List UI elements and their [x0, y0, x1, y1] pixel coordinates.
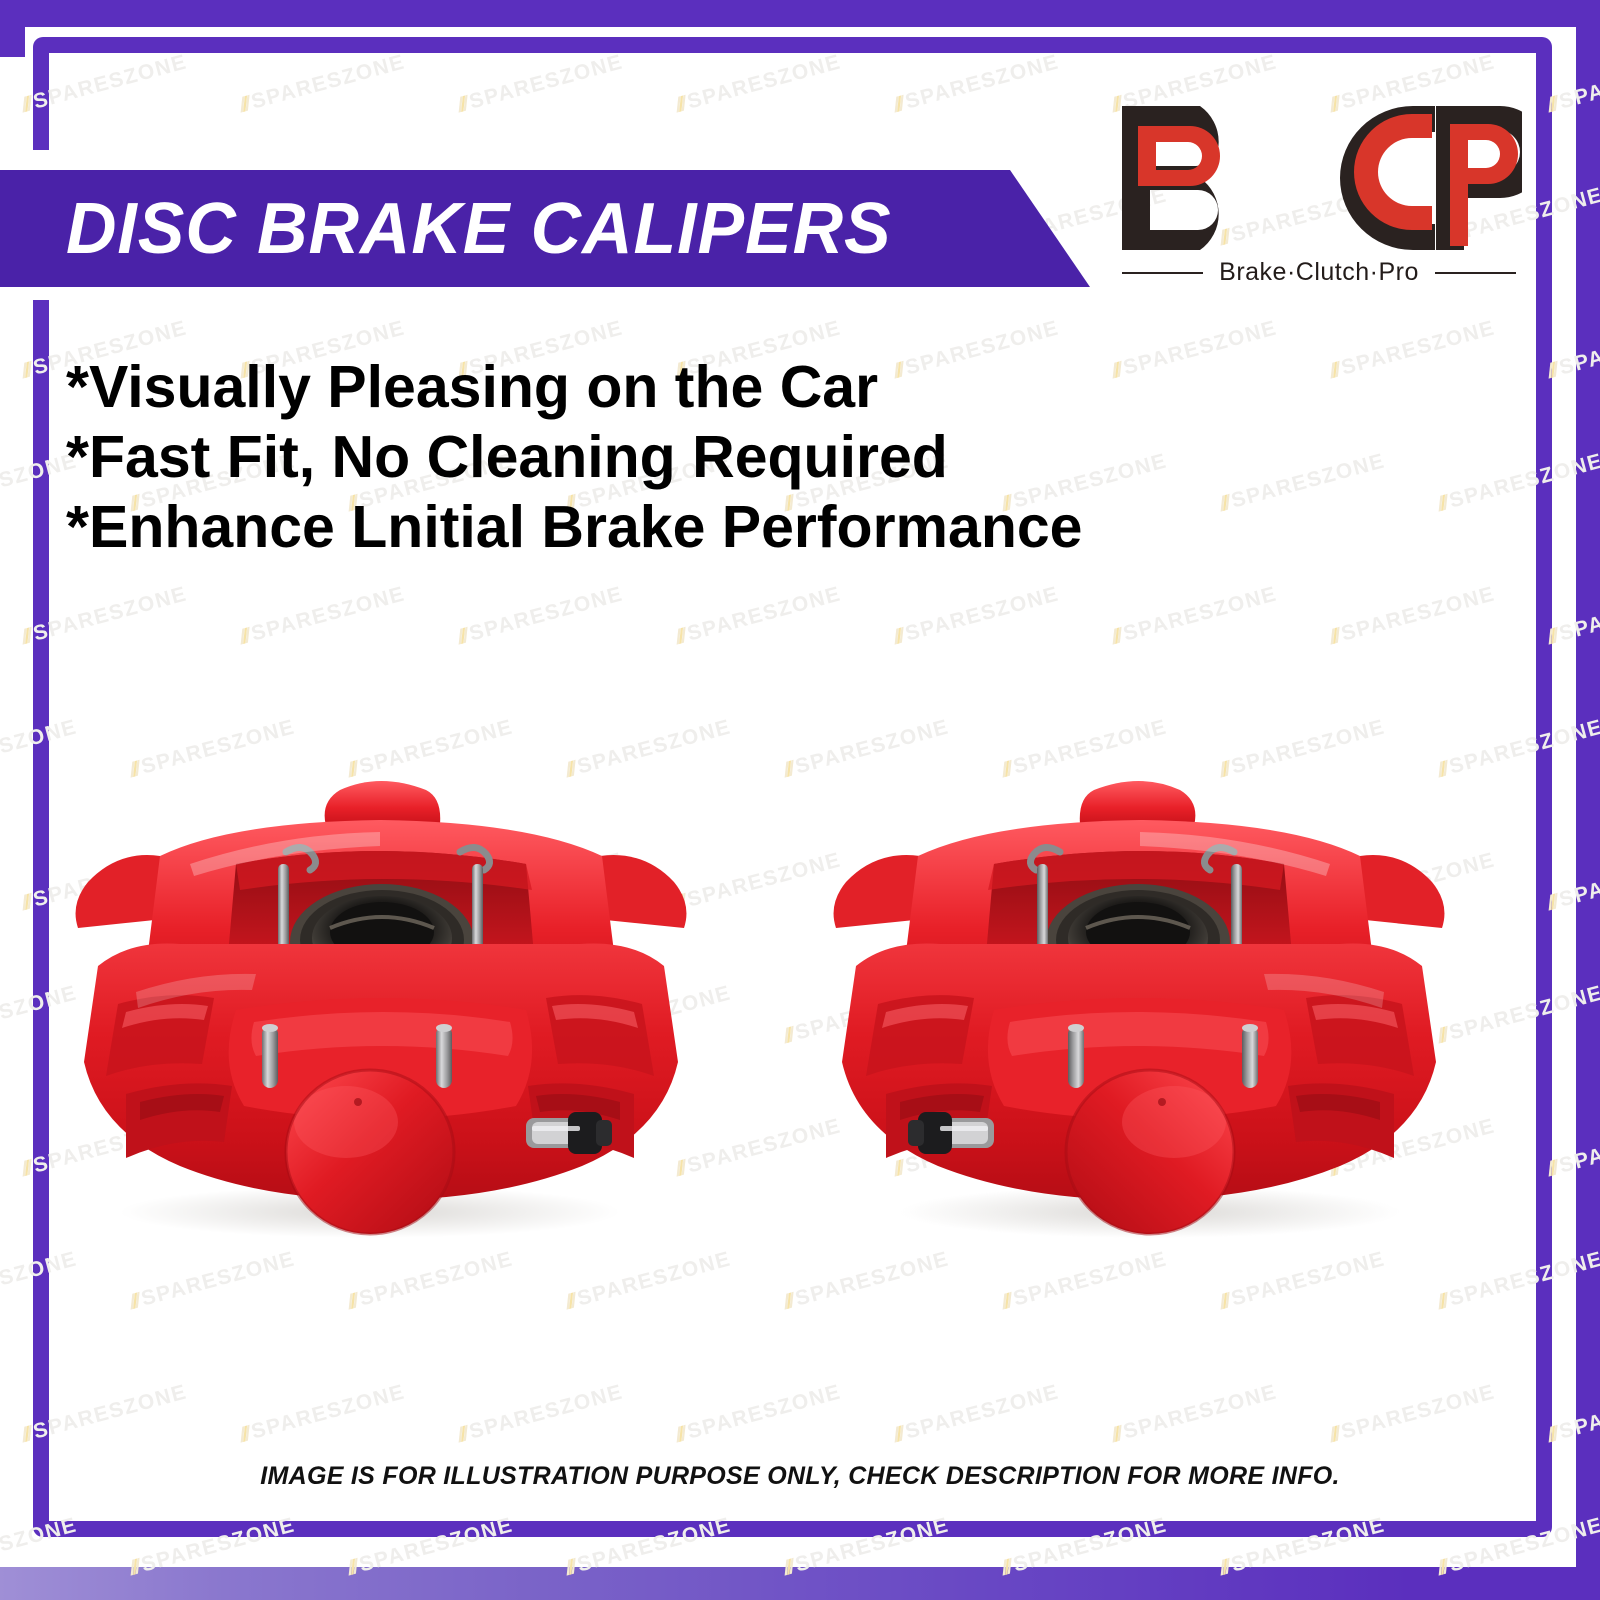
frame-bottom-band	[0, 1567, 1600, 1600]
title-banner: DISC BRAKE CALIPERS	[0, 170, 1090, 287]
logo-rule-left	[1122, 272, 1203, 274]
feature-line: *Fast Fit, No Cleaning Required	[66, 422, 1082, 492]
feature-line: *Enhance Lnitial Brake Performance	[66, 492, 1082, 562]
page-title: DISC BRAKE CALIPERS	[66, 188, 892, 270]
logo-letters-bcp	[1116, 96, 1522, 264]
watermark-sparezone: ///SPARESZONE	[0, 570, 17, 650]
brand-logo: Brake·Clutch·Pro	[1116, 96, 1522, 287]
watermark-sparezone: ///SPARESZONE	[0, 304, 17, 384]
watermark-slash-icon: ///	[19, 626, 32, 650]
feature-line: *Visually Pleasing on the Car	[66, 352, 1082, 422]
guide-pin	[436, 1024, 452, 1088]
feature-list: *Visually Pleasing on the Car *Fast Fit,…	[66, 352, 1082, 562]
frame-left-band	[0, 0, 25, 57]
bleed-nipple	[908, 1112, 994, 1154]
caliper-left	[40, 760, 720, 1240]
caliper-right	[800, 760, 1480, 1240]
watermark-slash-icon: ///	[19, 1424, 32, 1448]
logo-rule-right	[1435, 272, 1516, 274]
disclaimer-text: IMAGE IS FOR ILLUSTRATION PURPOSE ONLY, …	[0, 1462, 1600, 1491]
frame-top-band	[0, 0, 1600, 27]
guide-pin	[1068, 1024, 1084, 1088]
watermark-slash-icon: ///	[19, 94, 32, 118]
product-image-canvas: ///SPARESZONE///SPARESZONE///SPARESZONE/…	[0, 0, 1600, 1600]
watermark-slash-icon: ///	[19, 360, 32, 384]
guide-pin	[1242, 1024, 1258, 1088]
product-photo	[0, 700, 1600, 1400]
bleed-nipple	[526, 1112, 612, 1154]
guide-pin	[262, 1024, 278, 1088]
